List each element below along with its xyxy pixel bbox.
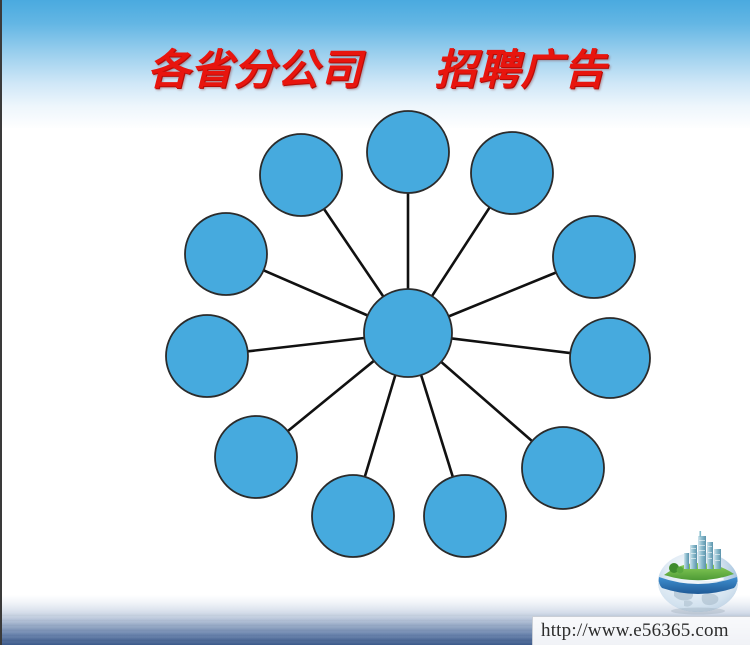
- center-node-circle[interactable]: [364, 289, 452, 377]
- node-circle[interactable]: [185, 213, 267, 295]
- diagram-node-1[interactable]: [367, 111, 449, 193]
- diagram-node-10[interactable]: [185, 213, 267, 295]
- spoke-line-2: [431, 207, 490, 297]
- node-circle[interactable]: [424, 475, 506, 557]
- node-circle[interactable]: [471, 132, 553, 214]
- slide-canvas: 各省分公司招聘广告: [0, 0, 750, 645]
- diagram-node-2[interactable]: [471, 132, 553, 214]
- diagram-node-5[interactable]: [522, 427, 604, 509]
- spoke-line-11: [323, 208, 383, 297]
- radial-hub-diagram: [2, 0, 750, 645]
- node-circle[interactable]: [522, 427, 604, 509]
- node-circle[interactable]: [260, 134, 342, 216]
- spoke-line-3: [448, 272, 557, 317]
- diagram-node-4[interactable]: [570, 318, 650, 398]
- diagram-node-7[interactable]: [312, 475, 394, 557]
- node-circle[interactable]: [215, 416, 297, 498]
- diagram-node-8[interactable]: [215, 416, 297, 498]
- diagram-node-11[interactable]: [260, 134, 342, 216]
- node-circle[interactable]: [553, 216, 635, 298]
- node-circle[interactable]: [367, 111, 449, 193]
- diagram-node-6[interactable]: [424, 475, 506, 557]
- node-circle[interactable]: [570, 318, 650, 398]
- globe-icon: [650, 527, 746, 615]
- diagram-node-9[interactable]: [166, 315, 248, 397]
- spoke-line-10: [263, 270, 369, 316]
- spoke-line-9: [247, 338, 366, 352]
- diagram-node-3[interactable]: [553, 216, 635, 298]
- spoke-line-5: [440, 361, 532, 441]
- spoke-line-8: [287, 360, 375, 432]
- spoke-line-6: [421, 374, 453, 478]
- watermark-bar: http://www.e56365.com: [532, 616, 750, 645]
- diagram-canvas: [2, 0, 750, 645]
- node-circle[interactable]: [166, 315, 248, 397]
- nodes-group: [166, 111, 650, 557]
- earth-city-globe-logo: [650, 527, 746, 615]
- spoke-line-7: [365, 374, 396, 478]
- watermark-url: http://www.e56365.com: [533, 617, 750, 644]
- spoke-line-4: [451, 338, 572, 353]
- node-circle[interactable]: [312, 475, 394, 557]
- diagram-center-node[interactable]: [364, 289, 452, 377]
